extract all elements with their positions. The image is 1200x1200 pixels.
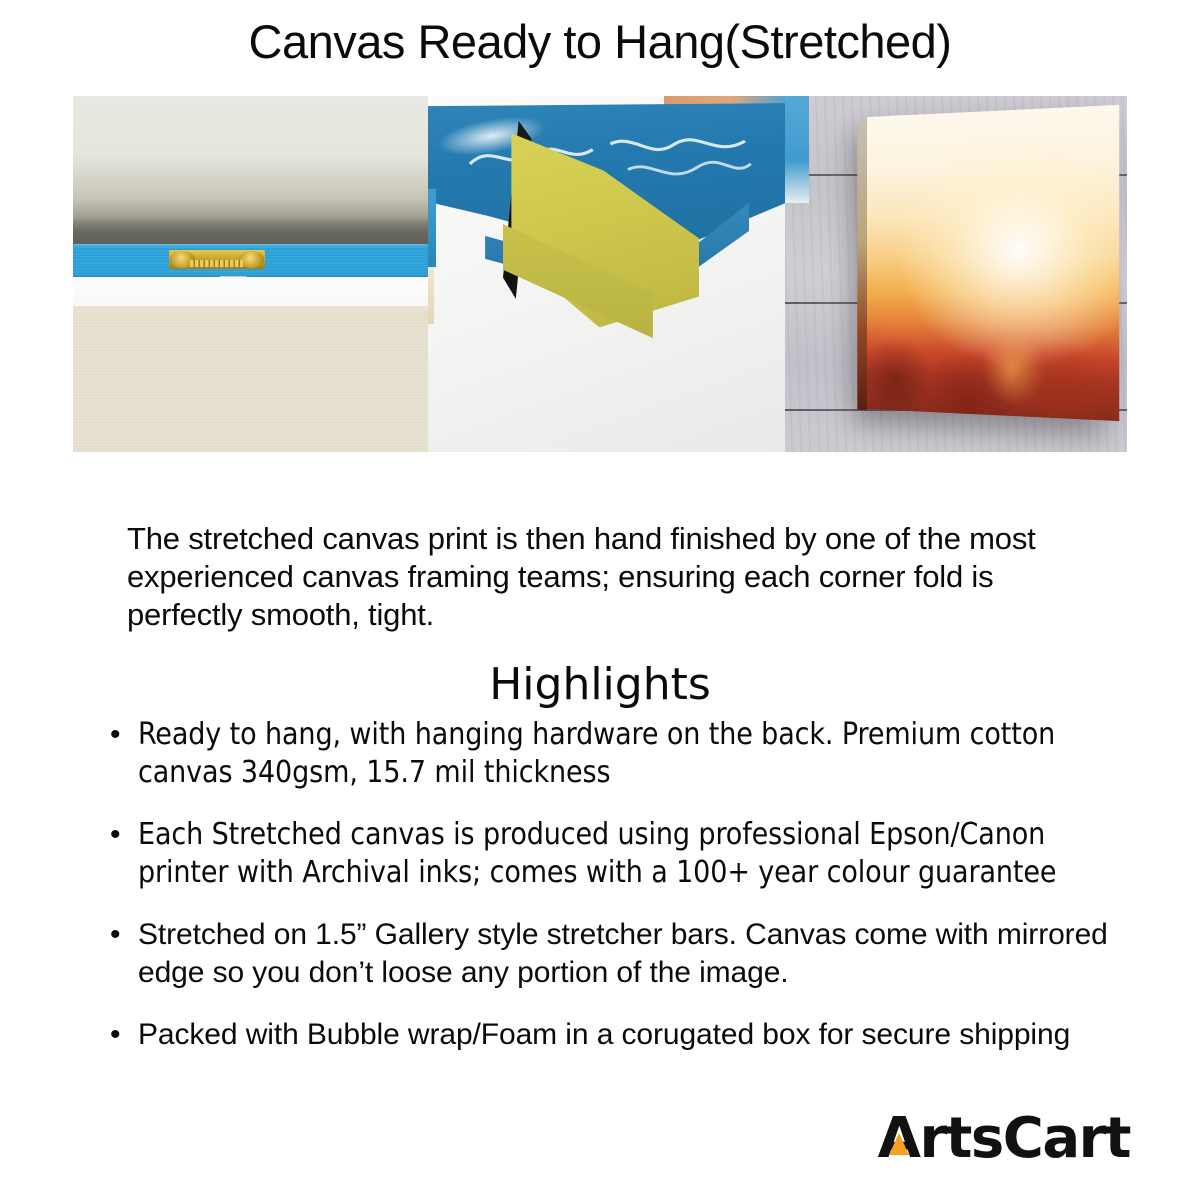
canvas-corner-fold-photo — [428, 96, 785, 452]
canvas-cotton-surface — [73, 306, 428, 452]
canvas-back-hanger-photo — [73, 96, 428, 452]
list-item-text: Each Stretched canvas is produced using … — [138, 817, 1056, 890]
hanger-teeth — [190, 260, 243, 267]
bullet-dot-icon: • — [110, 916, 120, 954]
list-item: • Packed with Bubble wrap/Foam in a coru… — [100, 1016, 1130, 1054]
list-item-text: Ready to hang, with hanging hardware on … — [138, 717, 1055, 790]
bullet-dot-icon: • — [110, 716, 120, 754]
logo-wordmark-rest: rtsCart — [920, 1106, 1131, 1171]
list-item: • Ready to hang, with hanging hardware o… — [100, 716, 1130, 792]
list-item-text: Stretched on 1.5” Gallery style stretche… — [138, 918, 1108, 989]
page-title: Canvas Ready to Hang(Stretched) — [0, 15, 1200, 69]
highlights-list: • Ready to hang, with hanging hardware o… — [100, 716, 1130, 1078]
product-image-gallery — [73, 96, 1127, 452]
artscart-logo[interactable]: A rtsCart — [878, 1107, 1130, 1171]
list-item: • Each Stretched canvas is produced usin… — [100, 816, 1130, 892]
sunset-landscape-print — [867, 105, 1120, 421]
logo-letter-a: A — [878, 1107, 920, 1171]
list-item: • Stretched on 1.5” Gallery style stretc… — [100, 916, 1130, 992]
description-paragraph: The stretched canvas print is then hand … — [127, 520, 1087, 634]
orange-triangle-icon — [889, 1133, 909, 1155]
highlights-heading: Highlights — [0, 659, 1200, 711]
photo-shadow-band — [73, 217, 428, 245]
bullet-dot-icon: • — [110, 1016, 120, 1054]
bullet-dot-icon: • — [110, 816, 120, 854]
canvas-gallery-wrap-edge — [857, 122, 867, 411]
hanging-canvas — [867, 105, 1120, 421]
list-item-text: Packed with Bubble wrap/Foam in a coruga… — [138, 1018, 1070, 1051]
photo-left-cream-sliver — [428, 267, 434, 324]
canvas-on-wall-photo — [785, 96, 1127, 452]
photo-left-blue-sliver — [785, 96, 809, 203]
photo-left-blue-sliver — [428, 189, 436, 267]
